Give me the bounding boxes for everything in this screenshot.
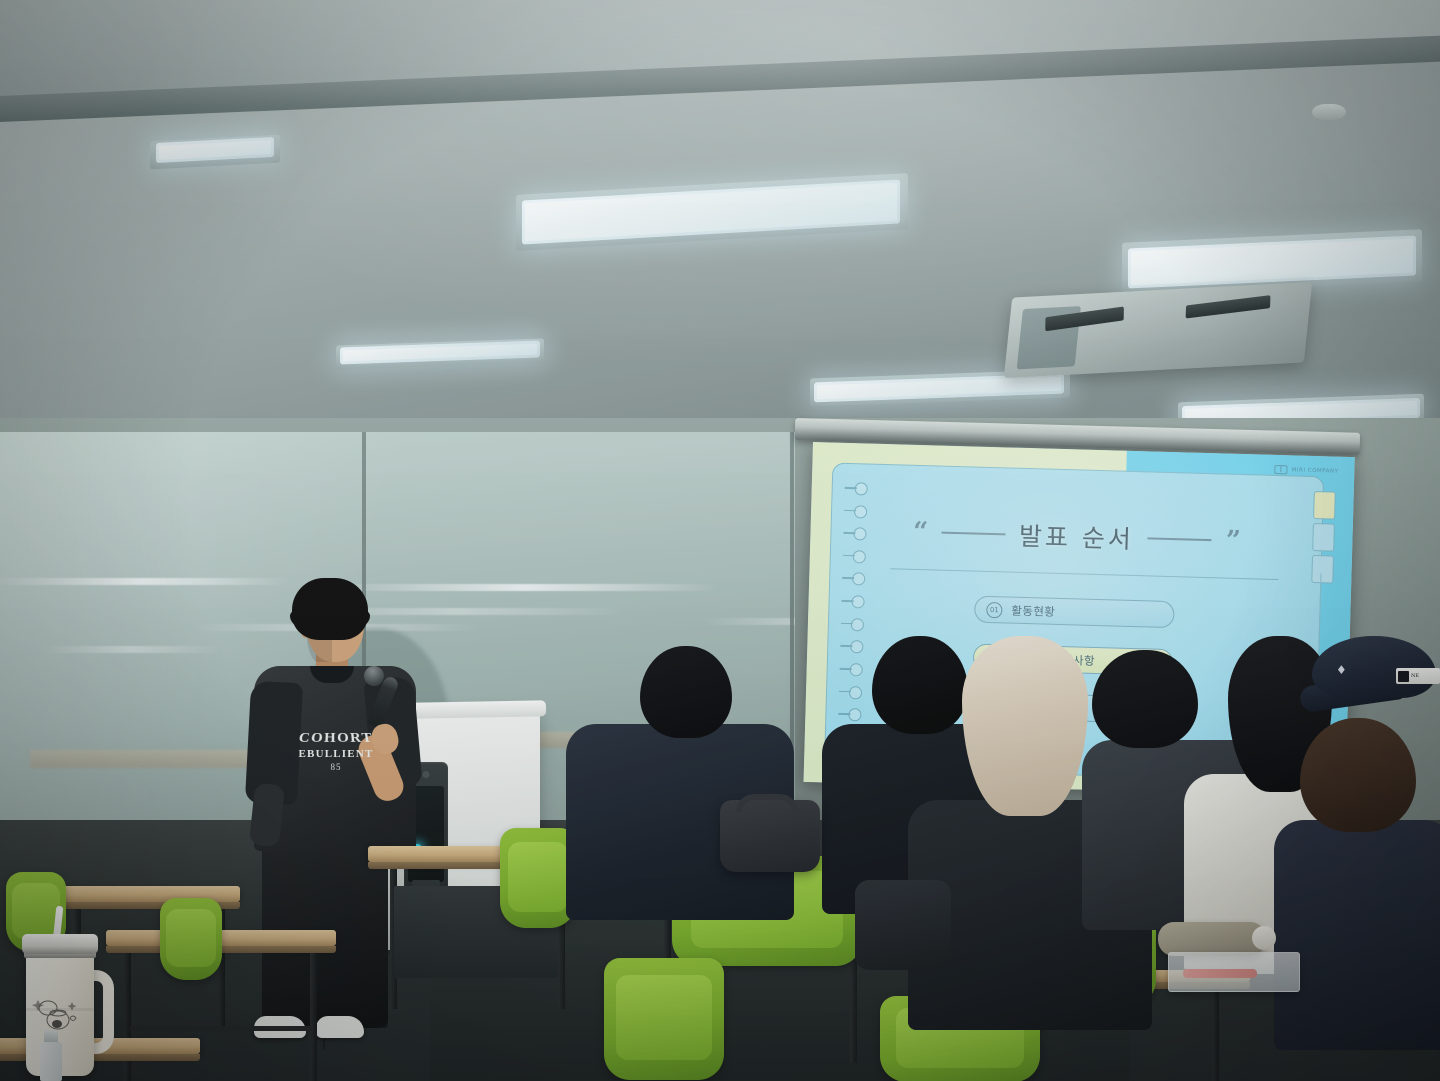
light-frame-3 <box>1122 229 1422 295</box>
ceiling-light-5 <box>814 374 1064 403</box>
ceiling-light-4 <box>340 341 540 365</box>
presenter-shoe-right <box>316 1016 364 1038</box>
chair-center-1[interactable] <box>500 828 576 928</box>
pencil-case <box>1168 952 1300 992</box>
backpack-center <box>720 800 820 872</box>
background-desk-1 <box>30 750 280 768</box>
backpack-right <box>855 880 951 970</box>
baseball-cap: ♦ NE <box>1300 636 1440 722</box>
cap-logo-icon: ♦ <box>1336 664 1350 677</box>
lecture-room-photo: MIRI COMPANY “ 발표 순서 ” <box>0 0 1440 1081</box>
chair-left-1[interactable] <box>160 898 222 980</box>
rolled-item <box>1158 922 1266 956</box>
chair-center-3[interactable] <box>604 958 724 1080</box>
ceiling-beam-edge <box>0 36 1440 122</box>
ceiling-light-1 <box>156 137 274 163</box>
ceiling-light-2 <box>522 179 900 244</box>
light-frame-2 <box>516 173 908 251</box>
spray-bottle <box>40 1042 62 1081</box>
smoke-detector <box>1312 104 1346 120</box>
light-frame-4 <box>336 338 544 369</box>
cap-sticker: NE <box>1396 668 1440 684</box>
ceiling <box>0 0 1440 440</box>
cap-sticker-text: NE <box>1411 673 1419 679</box>
ceiling-beam <box>0 0 1440 120</box>
tumbler <box>18 918 110 1078</box>
ceiling-ac-unit <box>1004 282 1312 378</box>
light-frame-1 <box>150 135 280 170</box>
light-frame-5 <box>810 369 1070 406</box>
ceiling-light-3 <box>1128 235 1416 288</box>
